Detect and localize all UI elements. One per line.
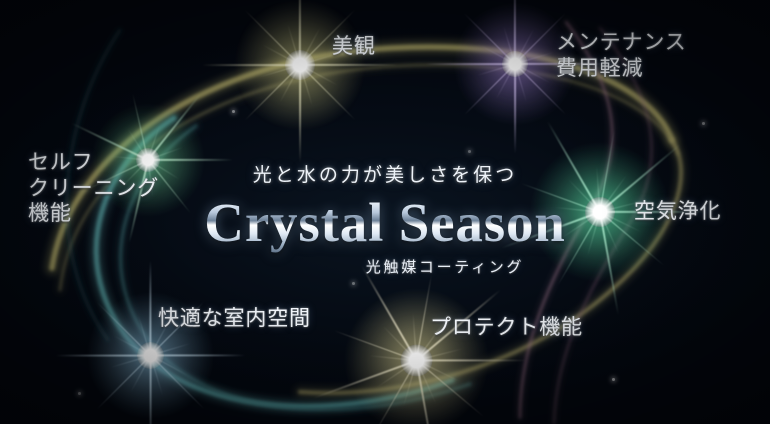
- feature-label-biyou: 美観: [332, 34, 376, 60]
- crystal-season-hero-banner: 美観メンテナンス 費用軽減セルフ クリーニング 機能空気浄化快適な室内空間プロテ…: [0, 0, 770, 424]
- feature-label-comfort-room: 快適な室内空間: [158, 306, 311, 332]
- feature-label-protect: プロテクト機能: [430, 315, 583, 341]
- feature-label-self-cleaning: セルフ クリーニング 機能: [28, 150, 159, 227]
- ribbon-gold-low-glow: [300, 140, 681, 393]
- ribbon-teal-left2: [121, 126, 470, 410]
- feature-label-maintenance: メンテナンス 費用軽減: [556, 30, 687, 81]
- ribbon-gold-low: [300, 140, 681, 393]
- feature-label-air-purify: 空気浄化: [634, 199, 721, 225]
